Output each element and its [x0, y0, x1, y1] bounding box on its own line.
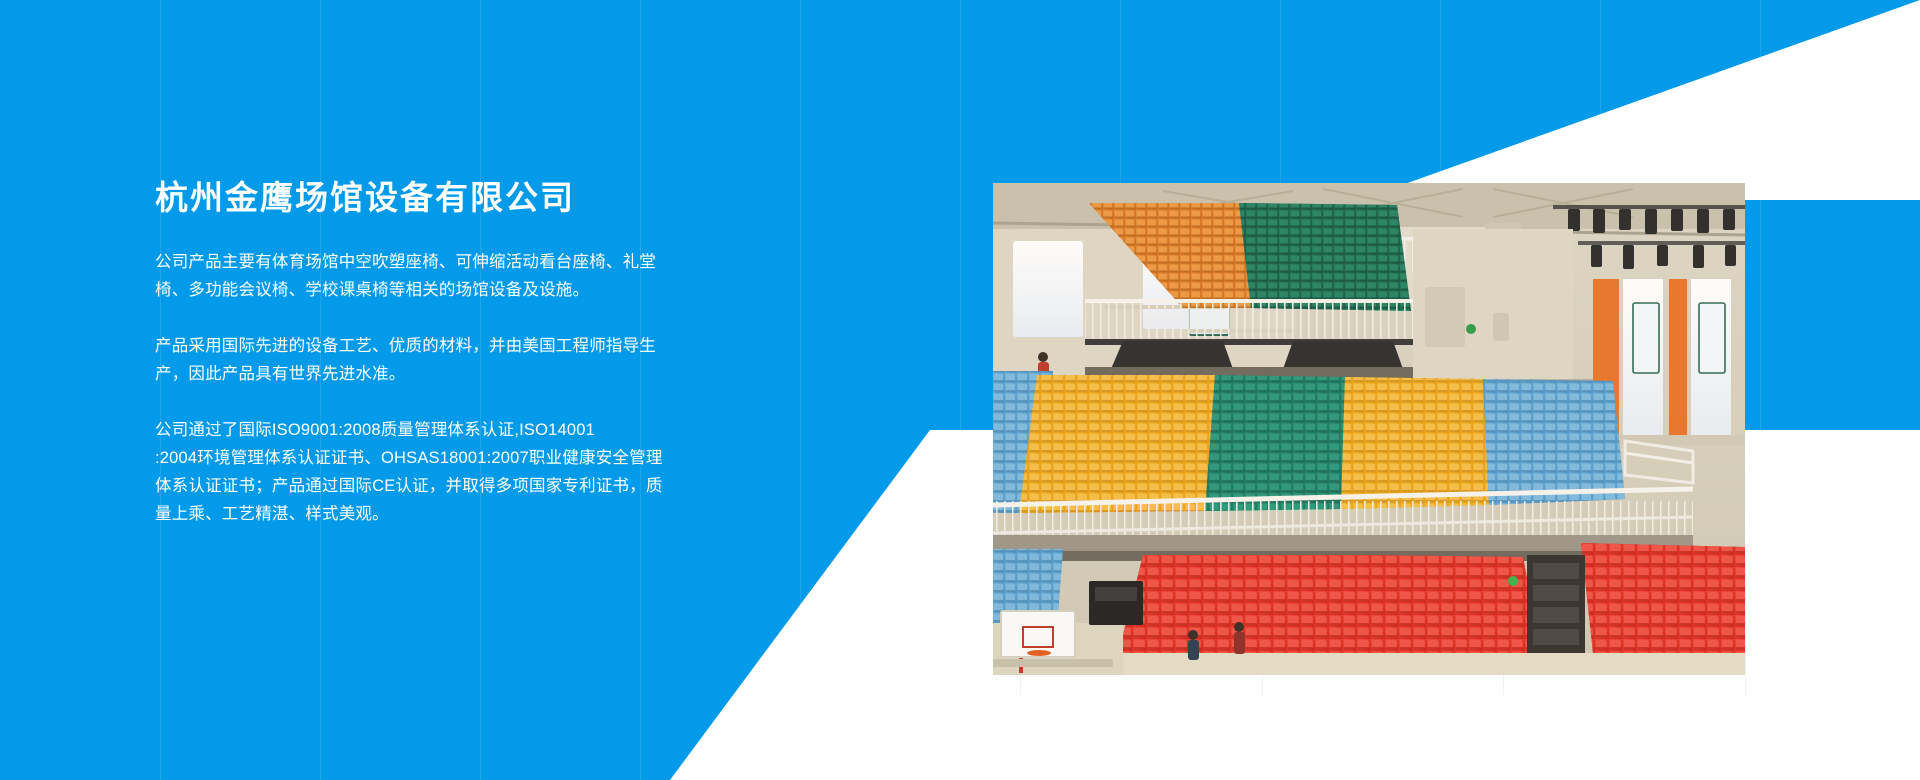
company-headline: 杭州金鹰场馆设备有限公司: [155, 178, 675, 218]
certification-paragraph: 公司通过了国际ISO9001:2008质量管理体系认证,ISO14001:200…: [155, 416, 675, 528]
banner-text-column: 杭州金鹰场馆设备有限公司 公司产品主要有体育场馆中空吹塑座椅、可伸缩活动看台座椅…: [155, 178, 675, 528]
product-intro-paragraph: 公司产品主要有体育场馆中空吹塑座椅、可伸缩活动看台座椅、礼堂椅、多功能会议椅、学…: [155, 248, 675, 304]
arena-seating-photo: [993, 183, 1745, 675]
certification-text-part2: :2004环境管理体系认证证书、OHSAS18001:2007职业健康安全管理体…: [155, 449, 663, 523]
technology-paragraph: 产品采用国际先进的设备工艺、优质的材料，并由美国工程师指导生产，因此产品具有世界…: [155, 332, 675, 388]
promo-banner: 杭州金鹰场馆设备有限公司 公司产品主要有体育场馆中空吹塑座椅、可伸缩活动看台座椅…: [0, 0, 1920, 780]
arena-seating-illustration: [993, 183, 1745, 675]
certification-text-part1: 公司通过了国际ISO9001:2008质量管理体系认证,ISO14001: [155, 421, 595, 439]
